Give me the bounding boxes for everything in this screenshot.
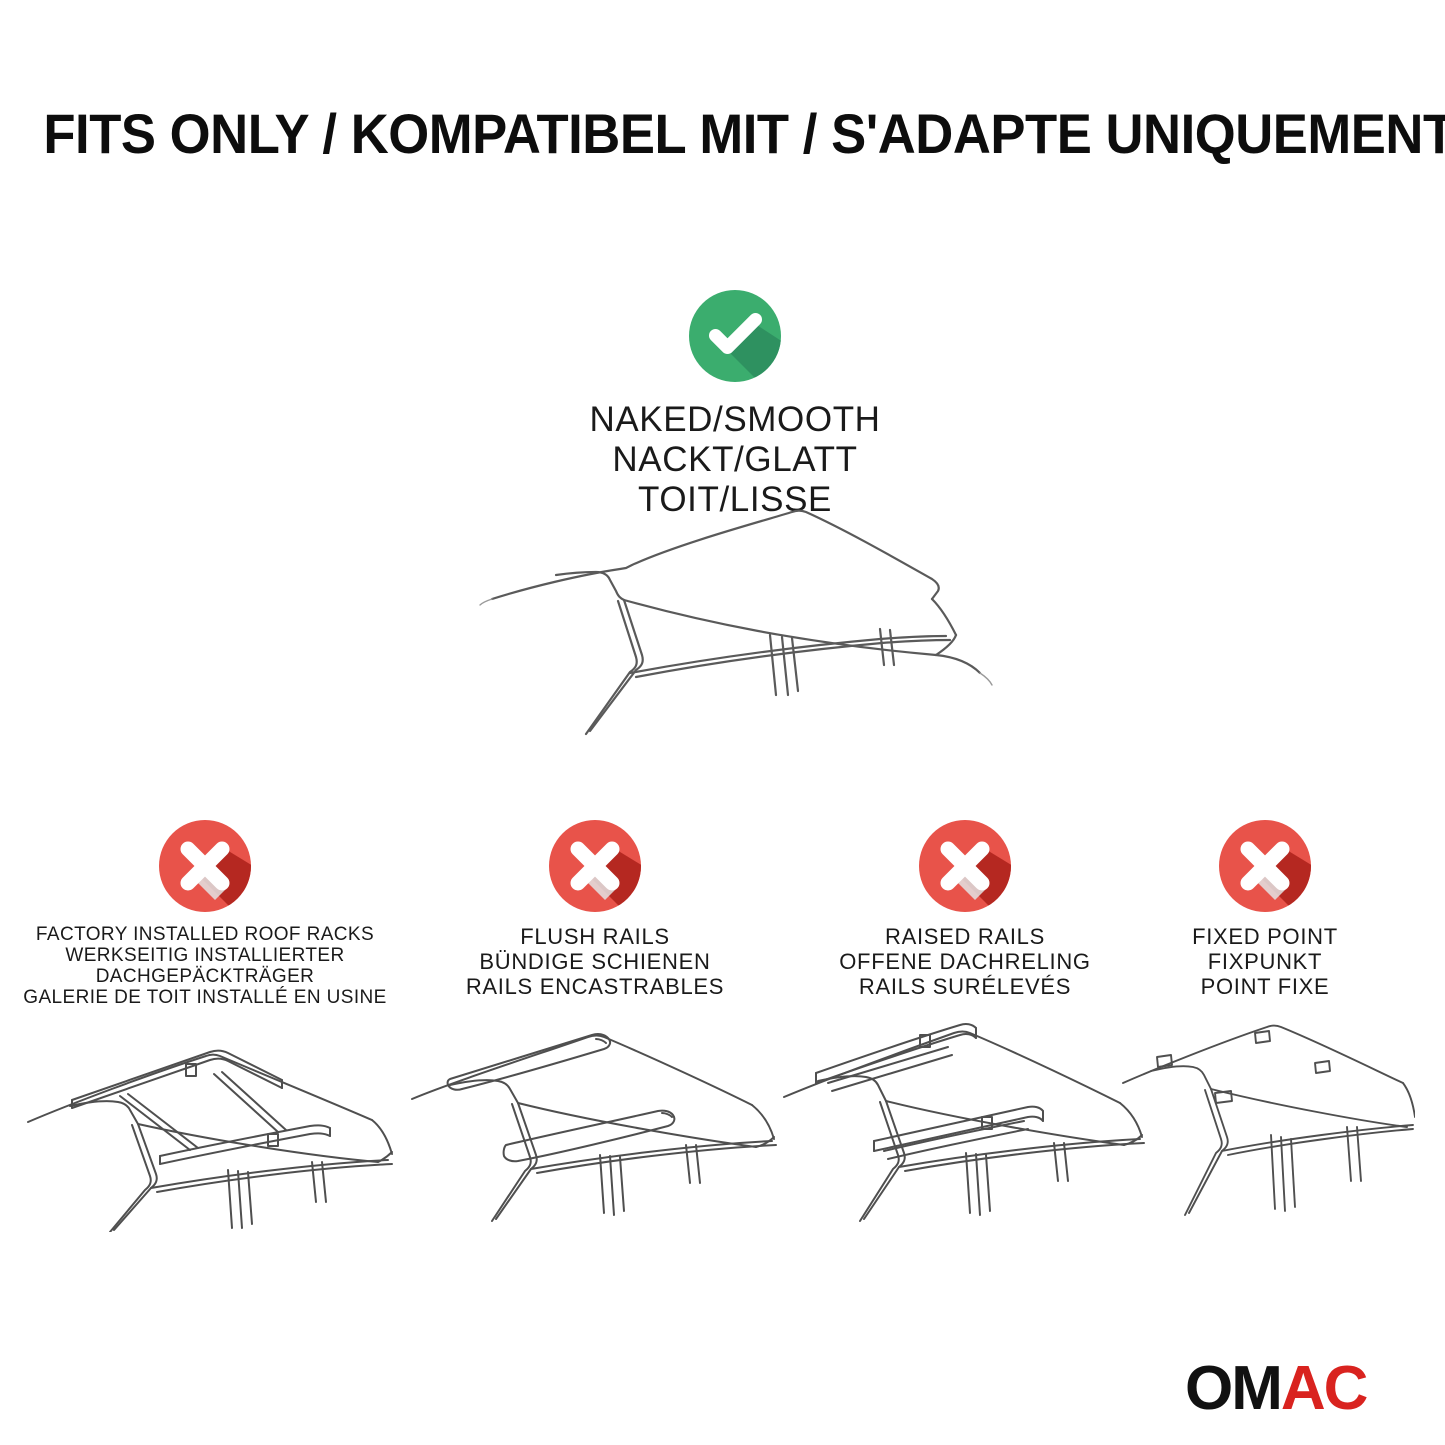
label-line-1: FIXED POINT (1115, 924, 1415, 949)
label-line-2: OFFENE DACHRELING (770, 949, 1160, 974)
compatible-label-de: NACKT/GLATT (455, 440, 1015, 480)
incompatible-labels-fixed-point: FIXED POINT FIXPUNKT POINT FIXE (1115, 924, 1415, 999)
cross-circle-icon (917, 818, 1013, 914)
label-line-1: FACTORY INSTALLED ROOF RACKS (10, 924, 400, 945)
incompatible-item-flush-rails: FLUSH RAILS BÜNDIGE SCHIENEN RAILS ENCAS… (400, 818, 790, 1223)
incompatible-item-factory-rack: FACTORY INSTALLED ROOF RACKS WERKSEITIG … (10, 818, 400, 1232)
logo-text-dark: OM (1185, 1354, 1281, 1423)
omac-logo: OMAC (1185, 1358, 1366, 1420)
logo-text-red: AC (1281, 1354, 1367, 1423)
label-line-2: FIXPUNKT (1115, 949, 1415, 974)
label-line-2: BÜNDIGE SCHIENEN (400, 949, 790, 974)
label-line-1: RAISED RAILS (770, 924, 1160, 949)
incompatible-labels-raised-rails: RAISED RAILS OFFENE DACHRELING RAILS SUR… (770, 924, 1160, 999)
compatibility-infographic: FITS ONLY / KOMPATIBEL MIT / S'ADAPTE UN… (0, 0, 1445, 1445)
cross-circle-icon (547, 818, 643, 914)
label-line-1: FLUSH RAILS (400, 924, 790, 949)
incompatible-row: FACTORY INSTALLED ROOF RACKS WERKSEITIG … (0, 818, 1445, 1238)
fixed-point-drawing (1115, 1013, 1415, 1223)
cross-circle-icon (1217, 818, 1313, 914)
label-line-3: POINT FIXE (1115, 974, 1415, 999)
page-title: FITS ONLY / KOMPATIBEL MIT / S'ADAPTE UN… (43, 104, 1401, 164)
label-line-3: RAILS SURÉLEVÉS (770, 974, 1160, 999)
label-line-4: GALERIE DE TOIT INSTALLÉ EN USINE (10, 987, 400, 1008)
label-line-3: RAILS ENCASTRABLES (400, 974, 790, 999)
compatible-label-en: NAKED/SMOOTH (455, 400, 1015, 440)
incompatible-labels-flush-rails: FLUSH RAILS BÜNDIGE SCHIENEN RAILS ENCAS… (400, 924, 790, 999)
flush-rails-drawing (400, 1013, 790, 1223)
factory-roof-rack-drawing (10, 1022, 400, 1232)
compatible-section: NAKED/SMOOTH NACKT/GLATT TOIT/LISSE (455, 288, 1015, 520)
incompatible-item-raised-rails: RAISED RAILS OFFENE DACHRELING RAILS SUR… (770, 818, 1160, 1223)
incompatible-labels-factory-rack: FACTORY INSTALLED ROOF RACKS WERKSEITIG … (10, 924, 400, 1008)
label-line-3: DACHGEPÄCKTRÄGER (10, 966, 400, 987)
raised-rails-drawing (770, 1013, 1160, 1223)
naked-smooth-roof-drawing (470, 495, 1010, 750)
cross-circle-icon (157, 818, 253, 914)
check-circle-icon (687, 288, 783, 384)
incompatible-item-fixed-point: FIXED POINT FIXPUNKT POINT FIXE (1115, 818, 1415, 1223)
label-line-2: WERKSEITIG INSTALLIERTER (10, 945, 400, 966)
